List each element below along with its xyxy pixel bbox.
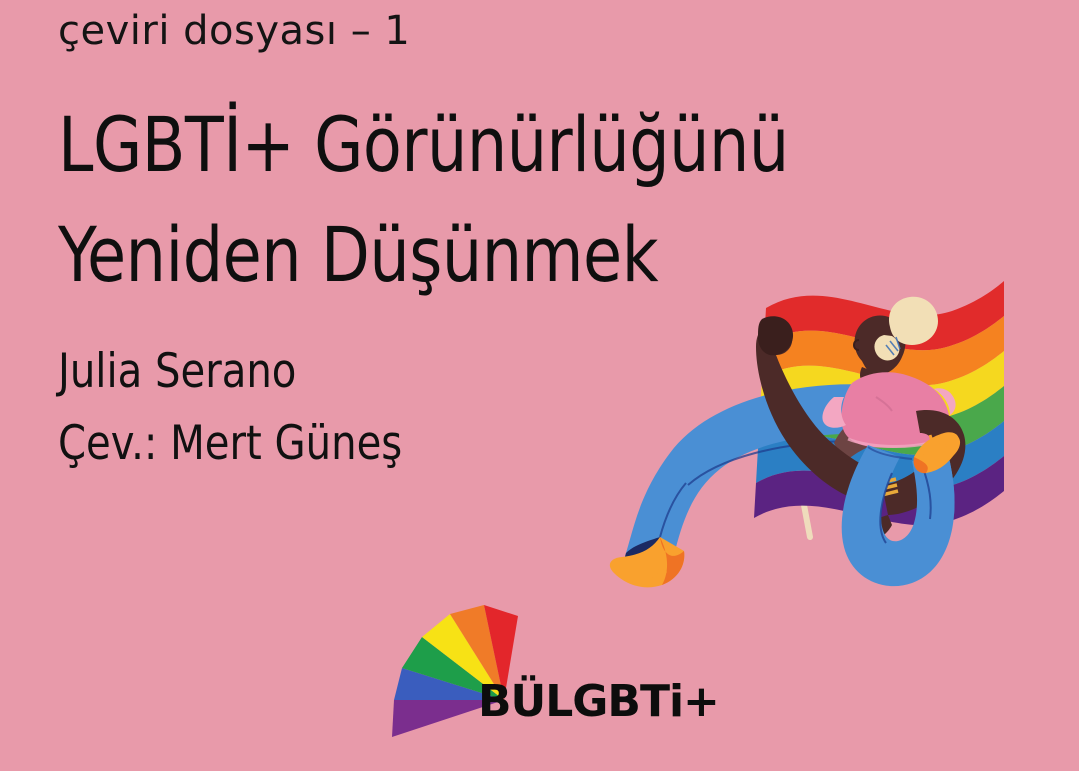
translator-name: Çev.: Mert Güneş	[58, 408, 723, 479]
bulgbti-logo[interactable]: BÜLGBTi+	[392, 604, 692, 744]
logo-wordmark: BÜLGBTi+	[478, 676, 719, 727]
author-name: Julia Serano	[58, 336, 723, 407]
title-line-1: LGBTİ+ Görünürlüğünü	[58, 90, 709, 200]
poster-canvas: çeviri dosyası – 1 LGBTİ+ Görünürlüğünü …	[0, 0, 1079, 771]
title-text-block: çeviri dosyası – 1 LGBTİ+ Görünürlüğünü …	[58, 6, 758, 479]
byline-block: Julia Serano Çev.: Mert Güneş	[58, 336, 723, 479]
series-label: çeviri dosyası – 1	[58, 6, 758, 56]
title-line-2: Yeniden Düşünmek	[58, 200, 709, 310]
page-title: LGBTİ+ Görünürlüğünü Yeniden Düşünmek	[58, 90, 709, 310]
